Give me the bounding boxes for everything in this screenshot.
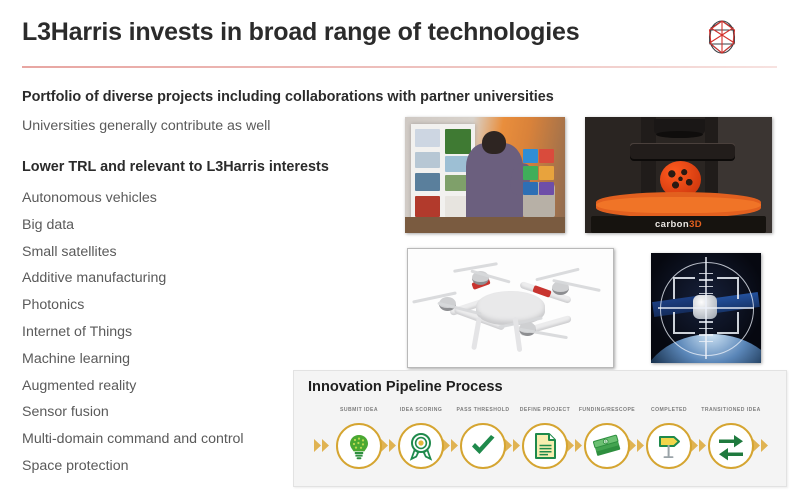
- pipeline-stage-define-project[interactable]: DEFINE PROJECT: [522, 423, 568, 469]
- transfer-arrows-icon: [716, 431, 746, 461]
- list-item: Small satellites: [22, 239, 244, 266]
- title-divider: [22, 66, 777, 68]
- signpost-icon: [654, 431, 684, 461]
- carbon3d-printer-photo: carbon3D: [585, 117, 772, 233]
- pipeline-title: Innovation Pipeline Process: [308, 379, 503, 395]
- pipeline-arrow: [443, 439, 460, 452]
- checkmark-icon: [468, 431, 498, 461]
- list-item: Internet of Things: [22, 319, 244, 346]
- list-item: Big data: [22, 212, 244, 239]
- technology-list: Autonomous vehicles Big data Small satel…: [22, 185, 244, 480]
- pipeline-arrow: [629, 439, 646, 452]
- stage-label: IDEA SCORING: [390, 407, 452, 433]
- lightbulb-icon: [344, 431, 374, 461]
- l3harris-globe-logo-icon: [700, 15, 744, 59]
- lead-heading: Portfolio of diverse projects including …: [22, 89, 554, 105]
- quadcopter-drone-photo: [407, 248, 614, 368]
- pipeline-arrow: [753, 439, 770, 452]
- list-item: Autonomous vehicles: [22, 185, 244, 212]
- pipeline-arrow: [691, 439, 708, 452]
- list-item: Space protection: [22, 453, 244, 480]
- pipeline-stage-transitioned-idea[interactable]: TRANSITIONED IDEA: [708, 423, 754, 469]
- pipeline-stage-completed[interactable]: COMPLETED: [646, 423, 692, 469]
- pipeline-arrow: [505, 439, 522, 452]
- second-heading: Lower TRL and relevant to L3Harris inter…: [22, 159, 329, 175]
- list-item: Sensor fusion: [22, 399, 244, 426]
- money-stack-icon: $: [592, 431, 622, 461]
- award-ribbon-icon: [406, 431, 436, 461]
- pipeline-stage-idea-scoring[interactable]: IDEA SCORING: [398, 423, 444, 469]
- slide: L3Harris invests in broad range of techn…: [0, 0, 799, 498]
- pipeline-stage-submit-idea[interactable]: SUBMIT IDEA: [336, 423, 382, 469]
- stage-label: DEFINE PROJECT: [514, 407, 576, 433]
- pipeline-arrow: [567, 439, 584, 452]
- stage-label: TRANSITIONED IDEA: [700, 407, 762, 433]
- document-icon: [530, 431, 560, 461]
- pipeline-stages: SUBMIT IDEA: [294, 407, 786, 483]
- list-item: Multi-domain command and control: [22, 426, 244, 453]
- list-item: Machine learning: [22, 346, 244, 373]
- augmented-reality-photo: [405, 117, 565, 233]
- stage-label: FUNDING/RESCOPE: [576, 407, 638, 433]
- satellite-targeting-photo: [651, 253, 761, 363]
- page-title: L3Harris invests in broad range of techn…: [22, 18, 579, 47]
- pipeline-stage-pass-threshold[interactable]: PASS THRESHOLD: [460, 423, 506, 469]
- pipeline-stage-funding-rescope[interactable]: FUNDING/RESCOPE $: [584, 423, 630, 469]
- lead-subtext: Universities generally contribute as wel…: [22, 118, 270, 134]
- printer-brand-label: carbon3D: [585, 219, 772, 230]
- pipeline-arrow: [381, 439, 398, 452]
- printer-brand-suffix: 3D: [689, 219, 702, 230]
- list-item: Photonics: [22, 292, 244, 319]
- list-item: Additive manufacturing: [22, 265, 244, 292]
- pipeline-arrow: [314, 439, 331, 452]
- printer-brand-text: carbon: [655, 219, 689, 230]
- stage-label: SUBMIT IDEA: [328, 407, 390, 433]
- innovation-pipeline-panel: Innovation Pipeline Process SUBMIT IDEA: [293, 370, 787, 487]
- stage-label: PASS THRESHOLD: [452, 407, 514, 433]
- stage-label: COMPLETED: [638, 407, 700, 433]
- list-item: Augmented reality: [22, 373, 244, 400]
